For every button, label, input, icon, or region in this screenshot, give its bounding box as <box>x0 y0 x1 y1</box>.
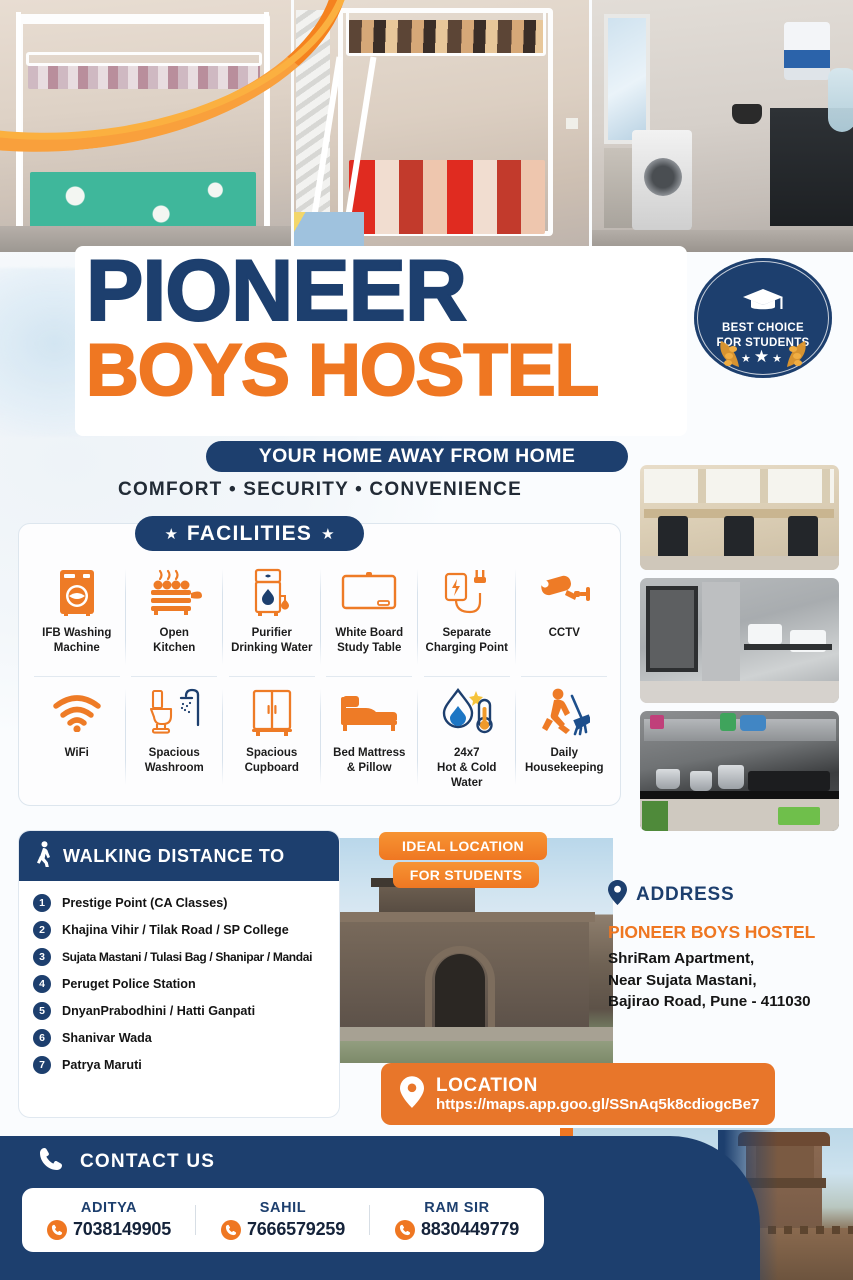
list-item: 7 Patrya Maruti <box>33 1056 325 1074</box>
walking-distance-list: 1 Prestige Point (CA Classes) 2 Khajina … <box>19 881 339 1091</box>
facility-label: WiFi <box>63 746 91 761</box>
list-item: 4 Peruget Police Station <box>33 975 325 993</box>
list-label: Peruget Police Station <box>62 977 196 991</box>
facility-label: White BoardStudy Table <box>333 626 405 656</box>
list-label: Shanivar Wada <box>62 1031 152 1045</box>
ideal-location-badge-2: FOR STUDENTS <box>393 862 539 888</box>
contact-card: ADITYA 7038149905 SAHIL 7666579259 <box>22 1188 544 1252</box>
facility-item: Bed Mattress& Pillow <box>321 677 419 797</box>
facility-item: SpaciousCupboard <box>223 677 321 797</box>
bed-icon <box>339 683 399 741</box>
contact-phone-row[interactable]: 7038149905 <box>26 1219 192 1240</box>
address-line: Near Sujata Mastani, <box>608 970 851 992</box>
photo-washing-machine-water-purifier-area <box>592 0 853 252</box>
facility-label: Bed Mattress& Pillow <box>331 746 407 776</box>
wifi-icon <box>51 683 103 741</box>
address-header: ADDRESS <box>608 880 851 910</box>
list-number: 3 <box>33 948 51 966</box>
contact-heading: CONTACT US <box>80 1151 215 1173</box>
list-label: DnyanPrabodhini / Hatti Ganpati <box>62 1004 255 1018</box>
photo-kitchen-gas-stove <box>640 711 839 831</box>
list-number: 6 <box>33 1029 51 1047</box>
list-item: 6 Shanivar Wada <box>33 1029 325 1047</box>
address-line: ShriRam Apartment, <box>608 948 851 970</box>
star-right-icon: ★ <box>321 525 334 543</box>
toilet-shower-icon <box>146 683 202 741</box>
walking-distance-header: WALKING DISTANCE TO <box>19 831 339 881</box>
phone-icon <box>38 1146 64 1177</box>
contact-number[interactable]: 8830449779 <box>421 1219 519 1240</box>
facility-label: DailyHousekeeping <box>523 746 606 776</box>
water-purifier-photo <box>784 22 830 80</box>
facility-item: PurifierDrinking Water <box>223 557 321 677</box>
facility-label: 24x7Hot & Cold Water <box>418 746 516 792</box>
contact-name: SAHIL <box>200 1200 366 1216</box>
phone-icon <box>47 1220 67 1240</box>
contact-person: RAM SIR 8830449779 <box>370 1200 544 1240</box>
list-label: Prestige Point (CA Classes) <box>62 896 227 910</box>
list-item: 5 DnyanPrabodhini / Hatti Ganpati <box>33 1002 325 1020</box>
contact-name: ADITYA <box>26 1200 192 1216</box>
list-number: 1 <box>33 894 51 912</box>
photo-bunk-bed-room-2 <box>294 0 589 252</box>
facility-item: WiFi <box>28 677 126 797</box>
tagline-pill: YOUR HOME AWAY FROM HOME <box>206 441 628 472</box>
charging-plug-icon <box>442 563 492 621</box>
address-hostel-name: PIONEER BOYS HOSTEL <box>608 922 851 943</box>
phone-icon <box>221 1220 241 1240</box>
cupboard-icon <box>249 683 295 741</box>
list-number: 7 <box>33 1056 51 1074</box>
address-line: Bajirao Road, Pune - 411030 <box>608 991 851 1013</box>
list-item: 3 Sujata Mastani / Tulasi Bag / Shanipar… <box>33 948 325 966</box>
title-line-2: BOYS HOSTEL <box>86 336 686 405</box>
sub-tagline: COMFORT • SECURITY • CONVENIENCE <box>0 479 640 501</box>
map-pin-icon <box>608 880 627 910</box>
badge-line-1: BEST CHOICE <box>722 321 804 335</box>
facility-item: DailyHousekeeping <box>516 677 614 797</box>
location-url[interactable]: https://maps.app.goo.gl/SSnAq5k8cdiogcBe… <box>436 1096 759 1113</box>
facility-label: SeparateCharging Point <box>424 626 510 656</box>
facility-label: SpaciousWashroom <box>143 746 206 776</box>
facility-label: IFB WashingMachine <box>40 626 113 656</box>
facility-item: SeparateCharging Point <box>418 557 516 677</box>
contact-phone-row[interactable]: 8830449779 <box>374 1219 540 1240</box>
contact-phone-row[interactable]: 7666579259 <box>200 1219 366 1240</box>
facility-label: OpenKitchen <box>151 626 197 656</box>
star-left-icon: ★ <box>164 525 177 543</box>
location-bar[interactable]: LOCATION https://maps.app.goo.gl/SSnAq5k… <box>381 1063 775 1125</box>
facilities-header: ★ FACILITIES ★ <box>135 516 364 551</box>
contact-person: ADITYA 7038149905 <box>22 1200 196 1240</box>
facilities-heading: FACILITIES <box>187 522 312 546</box>
phone-icon <box>395 1220 415 1240</box>
graduation-cap-icon <box>742 286 784 319</box>
list-item: 2 Khajina Vihir / Tilak Road / SP Colleg… <box>33 921 325 939</box>
list-number: 5 <box>33 1002 51 1020</box>
tagline-text: YOUR HOME AWAY FROM HOME <box>259 445 576 468</box>
facility-item: White BoardStudy Table <box>321 557 419 677</box>
facility-item: SpaciousWashroom <box>126 677 224 797</box>
ideal-location-badge-1: IDEAL LOCATION <box>379 832 547 860</box>
list-label: Khajina Vihir / Tilak Road / SP College <box>62 923 289 937</box>
map-pin-icon <box>400 1076 424 1113</box>
list-number: 4 <box>33 975 51 993</box>
facility-label: PurifierDrinking Water <box>229 626 314 656</box>
stove-kitchen-icon <box>145 563 203 621</box>
contact-person: SAHIL 7666579259 <box>196 1200 370 1240</box>
list-item: 1 Prestige Point (CA Classes) <box>33 894 325 912</box>
photo-washroom-sinks <box>640 578 839 703</box>
contact-name: RAM SIR <box>374 1200 540 1216</box>
list-number: 2 <box>33 921 51 939</box>
walking-distance-heading: WALKING DISTANCE TO <box>63 846 285 867</box>
facility-item: OpenKitchen <box>126 557 224 677</box>
location-text: LOCATION https://maps.app.goo.gl/SSnAq5k… <box>436 1075 759 1114</box>
water-thermometer-icon <box>441 683 493 741</box>
address-block: ADDRESS PIONEER BOYS HOSTEL ShriRam Apar… <box>608 880 851 1013</box>
facility-item: 24x7Hot & Cold Water <box>418 677 516 797</box>
contact-number[interactable]: 7038149905 <box>73 1219 171 1240</box>
cctv-camera-icon <box>537 563 591 621</box>
walking-person-icon <box>35 841 52 872</box>
title-line-1: PIONEER <box>86 252 686 332</box>
facility-label: SpaciousCupboard <box>243 746 301 776</box>
housekeeping-mop-icon <box>538 683 590 741</box>
ideal-location-line-1: IDEAL LOCATION <box>402 838 524 854</box>
facility-label: CCTV <box>547 626 582 641</box>
facility-item: IFB WashingMachine <box>28 557 126 677</box>
facility-item: CCTV <box>516 557 614 677</box>
badge-stars: ★★★ <box>694 347 832 367</box>
ideal-location-line-2: FOR STUDENTS <box>410 867 523 883</box>
right-photo-column <box>640 465 839 839</box>
poster-root: PIONEER BOYS HOSTEL BEST CHOICE FOR STUD… <box>0 0 853 1280</box>
list-label: Patrya Maruti <box>62 1058 142 1072</box>
photo-study-desk-cubicles <box>640 465 839 570</box>
best-choice-badge: BEST CHOICE FOR STUDENTS ★★★ <box>694 258 832 378</box>
location-heading: LOCATION <box>436 1075 759 1097</box>
facilities-grid: IFB WashingMachine <box>28 557 613 797</box>
washing-machine-icon <box>56 563 98 621</box>
walking-distance-card: WALKING DISTANCE TO 1 Prestige Point (CA… <box>18 830 340 1118</box>
page-title: PIONEER BOYS HOSTEL <box>86 252 686 405</box>
contact-header: CONTACT US <box>38 1146 215 1177</box>
white-board-icon <box>340 563 398 621</box>
contact-number[interactable]: 7666579259 <box>247 1219 345 1240</box>
list-label: Sujata Mastani / Tulasi Bag / Shanipar /… <box>62 950 312 964</box>
water-purifier-icon <box>249 563 295 621</box>
address-heading: ADDRESS <box>636 884 735 906</box>
